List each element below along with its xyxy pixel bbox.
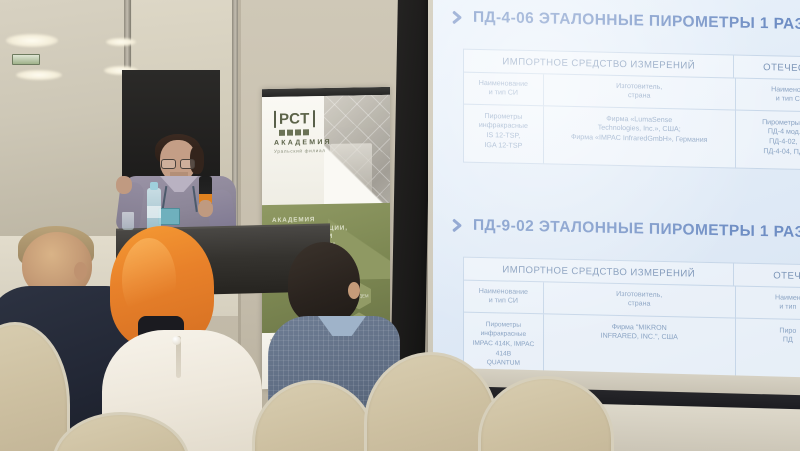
table-subheader-name-domestic: Наименов и тип С bbox=[736, 79, 800, 112]
table-cell-domestic: Пирометры пре ПД-4 мод. П ПД-4-02, П, ПД… bbox=[736, 110, 800, 170]
slide-table-1: ИМПОРТНОЕ СРЕДСТВО ИЗМЕРЕНИЙ ОТЕЧЕСТ Наи… bbox=[463, 49, 800, 171]
slide-heading-1: ПД-4-06 ЭТАЛОННЫЕ ПИРОМЕТРЫ 1 РАЗРЯ bbox=[451, 8, 800, 34]
speaker-hand-right bbox=[198, 200, 213, 217]
banner-academy-text: АКАДЕМИЯ bbox=[274, 139, 350, 147]
slide-heading-2: ПД-9-02 ЭТАЛОННЫЕ ПИРОМЕТРЫ 1 РАЗРЯ bbox=[451, 216, 800, 242]
exit-sign-icon bbox=[12, 54, 40, 65]
logo-rct-text: РСТ bbox=[279, 111, 310, 127]
drinking-glass bbox=[122, 212, 134, 230]
chevron-right-icon bbox=[451, 10, 464, 25]
attendee-right-ear bbox=[348, 282, 360, 299]
chevron-right-icon bbox=[451, 218, 464, 233]
logo-bar-right bbox=[313, 110, 315, 127]
table-subheader-name: Наименование и тип СИ bbox=[464, 281, 544, 314]
slide-heading-2-text: ПД-9-02 ЭТАЛОННЫЕ ПИРОМЕТРЫ 1 РАЗРЯ bbox=[473, 217, 800, 243]
table-cell-name: Пирометры инфракрасные IS 12-TSP, IGA 12… bbox=[464, 104, 544, 163]
logo-squares-icon bbox=[279, 129, 350, 136]
water-bottle-label bbox=[147, 206, 161, 218]
banner-logo: РСТ АКАДЕМИЯ Уральский филиал bbox=[274, 110, 350, 154]
attendee-center-hair-highlight bbox=[122, 238, 176, 322]
water-bottle-cap bbox=[150, 182, 158, 190]
table-subheader-name-domestic: Наимен и тип bbox=[736, 287, 800, 320]
logo-rct-mark: РСТ bbox=[274, 110, 350, 128]
table-cell-maker: Фирма «LumaSense Technologies, Inc.», СШ… bbox=[544, 106, 736, 168]
projection-screen: ПД-4-06 ЭТАЛОННЫЕ ПИРОМЕТРЫ 1 РАЗРЯ ИМПО… bbox=[433, 0, 800, 392]
ceiling-light-2 bbox=[16, 70, 62, 80]
conference-photo-scene: РСТ АКАДЕМИЯ Уральский филиал АКАДЕМИЯ С… bbox=[0, 0, 800, 451]
speaker-glasses bbox=[161, 159, 195, 167]
table-row: Пирометры инфракрасные IS 12-TSP, IGA 12… bbox=[464, 104, 800, 170]
table-group-header-domestic: ОТЕЧЕСТ bbox=[734, 55, 800, 79]
logo-bar-left bbox=[274, 111, 276, 128]
table-subheader-name: Наименование и тип СИ bbox=[464, 73, 544, 106]
table-subheader-maker: Изготовитель, страна bbox=[544, 74, 736, 109]
attendee-left-ear bbox=[74, 262, 87, 280]
table-subheader-maker: Изготовитель, страна bbox=[544, 282, 736, 317]
ceiling-light-3 bbox=[106, 38, 136, 46]
attendee-center-button bbox=[172, 336, 181, 345]
table-group-header-domestic: ОТЕЧ bbox=[734, 263, 800, 287]
speaker-badge bbox=[158, 208, 180, 225]
slide-heading-1-text: ПД-4-06 ЭТАЛОННЫЕ ПИРОМЕТРЫ 1 РАЗРЯ bbox=[473, 9, 800, 35]
speaker-hand-left bbox=[116, 176, 132, 194]
ceiling-light-1 bbox=[6, 34, 58, 47]
slide-content: ПД-4-06 ЭТАЛОННЫЕ ПИРОМЕТРЫ 1 РАЗРЯ ИМПО… bbox=[433, 0, 800, 392]
